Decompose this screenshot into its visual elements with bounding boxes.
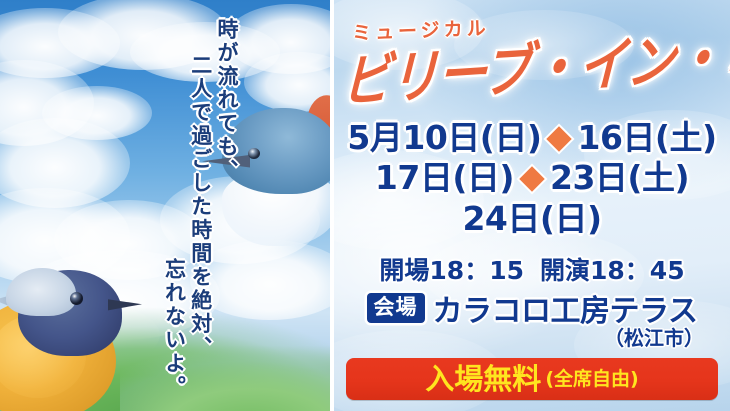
- illustration-panel: 忘れないよ。 二人で過ごした時間を絶対、 時が流れても、: [0, 0, 330, 411]
- free-admission-banner: 入場無料 (全席自由): [346, 358, 718, 400]
- venue-city: （松江市）: [604, 322, 704, 351]
- redstart-bird-illustration: [0, 262, 146, 411]
- free-seating-note: (全席自由): [545, 370, 638, 389]
- tagline-column-1: 時が流れても、: [216, 18, 238, 183]
- bird-eye: [248, 148, 260, 159]
- venue-badge: 会場: [367, 293, 425, 323]
- doors-open-label: 開場: [379, 256, 429, 285]
- date-1b: 16日(土): [577, 118, 716, 157]
- date-line-2: 17日(日)23日(土): [334, 158, 730, 198]
- date-2b: 23日(土): [550, 158, 689, 197]
- free-admission-label: 入場無料: [425, 365, 541, 394]
- performance-dates: 5月10日(日)16日(土) 17日(日)23日(土) 24日(日): [334, 118, 730, 239]
- showtimes: 開場18：15開演18：45: [334, 251, 730, 287]
- doors-open-time: 18：15: [429, 256, 524, 285]
- diamond-separator-icon: [547, 126, 572, 151]
- date-line-3: 24日(日): [334, 199, 730, 239]
- date-3a: 24日(日): [462, 199, 601, 238]
- diamond-separator-icon: [519, 167, 544, 192]
- poster: 忘れないよ。 二人で過ごした時間を絶対、 時が流れても、 ミュージカル ビリーブ…: [0, 0, 730, 411]
- show-start-label: 開演: [540, 256, 590, 285]
- tagline: 忘れないよ。 二人で過ごした時間を絶対、 時が流れても、: [163, 18, 238, 390]
- bird-cap: [6, 268, 76, 316]
- cloud-shape: [226, 4, 330, 74]
- tagline-column-3: 忘れないよ。: [163, 258, 185, 399]
- cloud-shape: [0, 8, 120, 78]
- date-2a: 17日(日): [375, 158, 514, 197]
- cloud-shape: [0, 118, 130, 208]
- info-panel: ミュージカル ビリーブ・イン・ミー 5月10日(日)16日(土) 17日(日)2…: [334, 0, 730, 411]
- cloud-shape: [42, 86, 152, 140]
- date-line-1: 5月10日(日)16日(土): [334, 118, 730, 158]
- show-start-time: 18：45: [590, 256, 685, 285]
- cloud-shape: [0, 60, 94, 146]
- tagline-column-2: 二人で過ごした時間を絶対、: [190, 54, 212, 360]
- bird-eye: [70, 292, 83, 305]
- date-1a: 5月10日(日): [347, 118, 541, 157]
- panel-divider: [330, 0, 334, 411]
